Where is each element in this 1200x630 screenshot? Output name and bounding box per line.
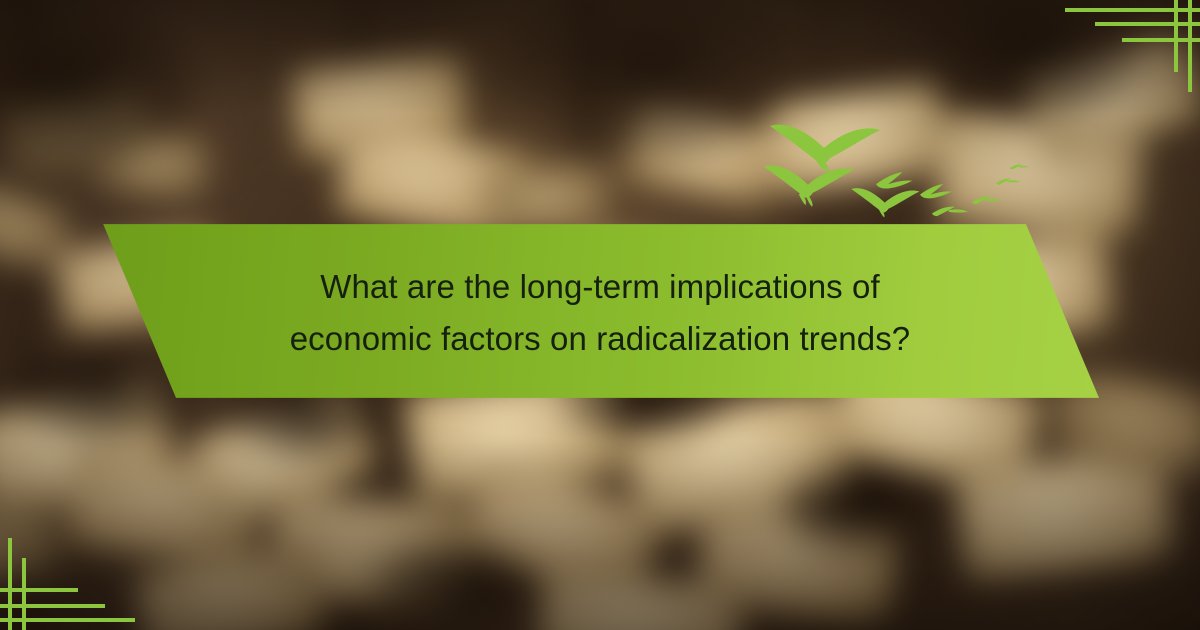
flying-birds-flock (760, 112, 1030, 232)
bird-icon (932, 207, 968, 216)
bird-icon (770, 125, 880, 173)
corner-rule-h1 (1065, 8, 1200, 12)
headline-text-block: What are the long-term implications of e… (100, 222, 1100, 400)
bird-icon (920, 184, 952, 198)
bird-icon (764, 165, 854, 206)
social-card-canvas: What are the long-term implications of e… (0, 0, 1200, 630)
bird-icon (1010, 164, 1029, 169)
corner-rule-v2 (1174, 0, 1178, 72)
headline-line-1: What are the long-term implications of (320, 264, 880, 310)
corner-rule-h1 (0, 618, 135, 622)
bird-icon (851, 188, 919, 217)
bird-icon (972, 197, 1001, 205)
corner-rule-h2 (1095, 22, 1200, 26)
corner-rule-v1 (1188, 0, 1192, 92)
corner-rule-h2 (0, 604, 105, 608)
bird-icon (996, 178, 1020, 184)
bird-icon (876, 172, 912, 189)
corner-rule-v1 (8, 538, 12, 630)
corner-rule-v2 (22, 558, 26, 630)
headline-banner: What are the long-term implications of e… (100, 222, 1100, 400)
headline-line-2: economic factors on radicalization trend… (290, 316, 911, 362)
